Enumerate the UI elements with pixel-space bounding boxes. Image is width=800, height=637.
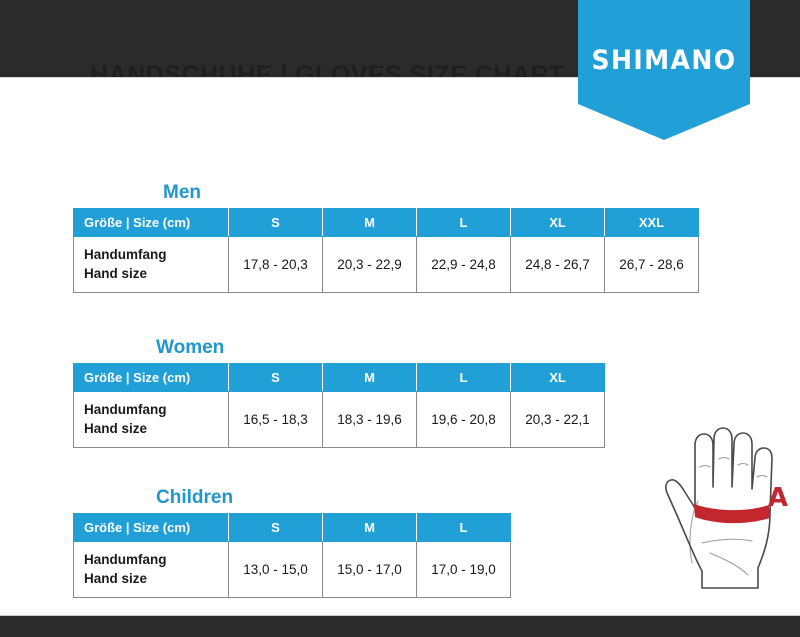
column-header-xl: XL — [511, 364, 605, 392]
brand-ribbon: SHIMANO — [578, 0, 750, 140]
size-table-women: Größe | Size (cm) S M L XL Handumfang Ha… — [73, 363, 605, 448]
size-table-men: Größe | Size (cm) S M L XL XXL Handumfan… — [73, 208, 699, 293]
column-header-m: M — [323, 209, 417, 237]
shimano-logo: SHIMANO — [584, 45, 744, 76]
row-label-en: Hand size — [84, 570, 228, 588]
cell-l: 17,0 - 19,0 — [417, 542, 511, 598]
column-header-l: L — [417, 514, 511, 542]
column-header-s: S — [229, 514, 323, 542]
table-header-row: Größe | Size (cm) S M L XL XXL — [74, 209, 699, 237]
row-label-en: Hand size — [84, 420, 228, 438]
section-title-women: Women — [73, 338, 605, 357]
row-label: Handumfang Hand size — [74, 392, 229, 448]
column-header-label: Größe | Size (cm) — [74, 514, 229, 542]
column-header-m: M — [323, 364, 417, 392]
hand-measurement-diagram: A — [640, 425, 790, 595]
cell-xl: 20,3 - 22,1 — [511, 392, 605, 448]
cell-m: 15,0 - 17,0 — [323, 542, 417, 598]
measurement-band-icon — [694, 504, 770, 523]
column-header-s: S — [229, 364, 323, 392]
cell-m: 18,3 - 19,6 — [323, 392, 417, 448]
table-row: Handumfang Hand size 13,0 - 15,0 15,0 - … — [74, 542, 511, 598]
footer-band — [0, 615, 800, 637]
section-women: Women Größe | Size (cm) S M L XL Handumf… — [73, 338, 605, 448]
cell-s: 16,5 - 18,3 — [229, 392, 323, 448]
page-title: HANDSCHUHE | GLOVES SIZE CHART — [90, 63, 565, 77]
column-header-xxl: XXL — [605, 209, 699, 237]
measurement-marker-label: A — [768, 483, 788, 513]
table-row: Handumfang Hand size 17,8 - 20,3 20,3 - … — [74, 237, 699, 293]
cell-m: 20,3 - 22,9 — [323, 237, 417, 293]
section-title-men: Men — [73, 183, 699, 202]
table-header-row: Größe | Size (cm) S M L XL — [74, 364, 605, 392]
table-header-row: Größe | Size (cm) S M L — [74, 514, 511, 542]
row-label-en: Hand size — [84, 265, 228, 283]
column-header-label: Größe | Size (cm) — [74, 364, 229, 392]
row-label-de: Handumfang — [84, 246, 228, 264]
size-table-children: Größe | Size (cm) S M L Handumfang Hand … — [73, 513, 511, 598]
column-header-l: L — [417, 364, 511, 392]
row-label-de: Handumfang — [84, 551, 228, 569]
cell-l: 19,6 - 20,8 — [417, 392, 511, 448]
column-header-m: M — [323, 514, 417, 542]
row-label: Handumfang Hand size — [74, 237, 229, 293]
column-header-xl: XL — [511, 209, 605, 237]
column-header-l: L — [417, 209, 511, 237]
section-children: Children Größe | Size (cm) S M L Handumf… — [73, 488, 511, 598]
cell-s: 17,8 - 20,3 — [229, 237, 323, 293]
section-men: Men Größe | Size (cm) S M L XL XXL Handu… — [73, 183, 699, 293]
cell-l: 22,9 - 24,8 — [417, 237, 511, 293]
section-title-children: Children — [73, 488, 511, 507]
row-label: Handumfang Hand size — [74, 542, 229, 598]
row-label-de: Handumfang — [84, 401, 228, 419]
column-header-label: Größe | Size (cm) — [74, 209, 229, 237]
cell-s: 13,0 - 15,0 — [229, 542, 323, 598]
cell-xxl: 26,7 - 28,6 — [605, 237, 699, 293]
column-header-s: S — [229, 209, 323, 237]
table-row: Handumfang Hand size 16,5 - 18,3 18,3 - … — [74, 392, 605, 448]
cell-xl: 24,8 - 26,7 — [511, 237, 605, 293]
